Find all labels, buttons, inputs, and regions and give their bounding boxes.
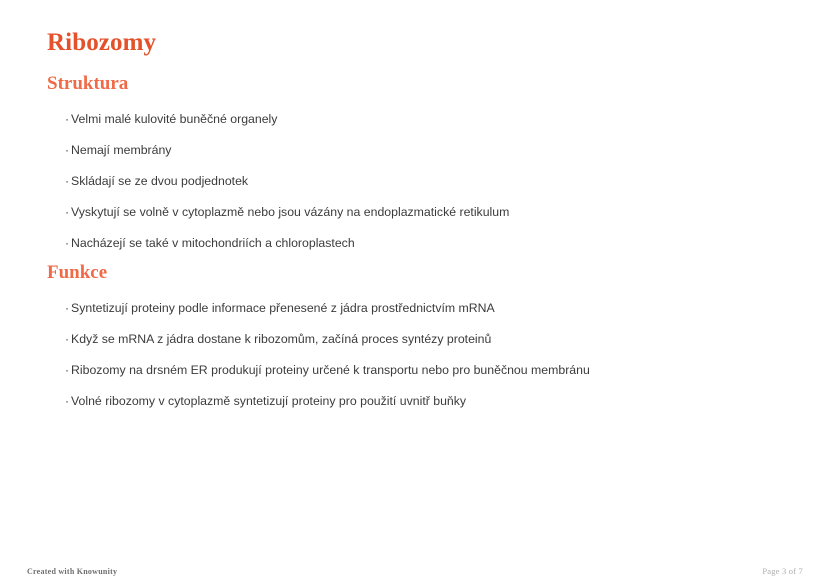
bullet-dot-icon: · xyxy=(65,113,69,125)
section-struktura: Struktura · Velmi malé kulovité buněčné … xyxy=(47,74,804,268)
list-item: · Syntetizují proteiny podle informace p… xyxy=(47,302,804,333)
list-item: · Nemají membrány xyxy=(47,144,804,175)
footer-attribution: Created with Knowunity xyxy=(27,567,117,576)
section-funkce: Funkce · Syntetizují proteiny podle info… xyxy=(47,263,804,426)
list-item: · Skládají se ze dvou podjednotek xyxy=(47,175,804,206)
bullet-dot-icon: · xyxy=(65,333,69,345)
list-item-text: Skládají se ze dvou podjednotek xyxy=(71,175,248,187)
list-item: · Ribozomy na drsném ER produkují protei… xyxy=(47,364,804,395)
list-item-text: Ribozomy na drsném ER produkují proteiny… xyxy=(71,364,590,376)
bullet-dot-icon: · xyxy=(65,302,69,314)
list-item: · Volné ribozomy v cytoplazmě syntetizuj… xyxy=(47,395,804,426)
list-item-text: Nemají membrány xyxy=(71,144,171,156)
bullet-dot-icon: · xyxy=(65,144,69,156)
bullet-dot-icon: · xyxy=(65,206,69,218)
list-item-text: Syntetizují proteiny podle informace pře… xyxy=(71,302,495,314)
list-item-text: Když se mRNA z jádra dostane k ribozomům… xyxy=(71,333,491,345)
page-title: Ribozomy xyxy=(47,30,156,55)
footer-page-number: Page 3 of 7 xyxy=(762,566,803,576)
list-item: · Velmi malé kulovité buněčné organely xyxy=(47,113,804,144)
list-item-text: Vyskytují se volně v cytoplazmě nebo jso… xyxy=(71,206,509,218)
bullet-dot-icon: · xyxy=(65,175,69,187)
list-item-text: Velmi malé kulovité buněčné organely xyxy=(71,113,277,125)
list-item-text: Nacházejí se také v mitochondriích a chl… xyxy=(71,237,355,249)
slide-page: Ribozomy Struktura · Velmi malé kulovité… xyxy=(0,0,828,586)
bullet-dot-icon: · xyxy=(65,237,69,249)
bullet-list-funkce: · Syntetizují proteiny podle informace p… xyxy=(47,302,804,426)
page-footer: Created with Knowunity Page 3 of 7 xyxy=(0,556,828,586)
bullet-dot-icon: · xyxy=(65,395,69,407)
list-item-text: Volné ribozomy v cytoplazmě syntetizují … xyxy=(71,395,466,407)
bullet-dot-icon: · xyxy=(65,364,69,376)
list-item: · Vyskytují se volně v cytoplazmě nebo j… xyxy=(47,206,804,237)
section-heading-funkce: Funkce xyxy=(47,263,804,282)
section-heading-struktura: Struktura xyxy=(47,74,804,93)
bullet-list-struktura: · Velmi malé kulovité buněčné organely ·… xyxy=(47,113,804,268)
list-item: · Když se mRNA z jádra dostane k ribozom… xyxy=(47,333,804,364)
